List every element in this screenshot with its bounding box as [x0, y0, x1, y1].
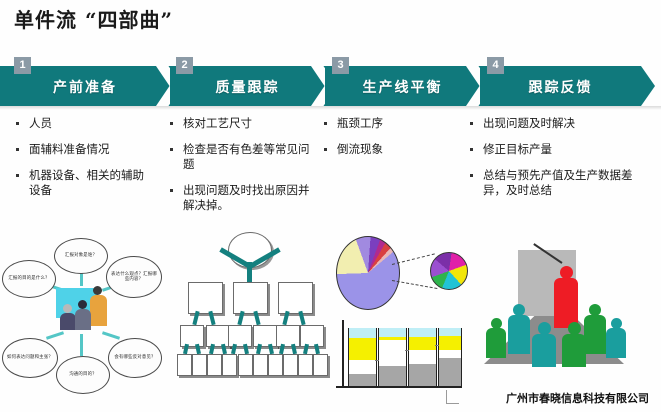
training-session-image [470, 232, 655, 397]
speech-bubble: 表达什么观点？汇报哪些内容？ [106, 256, 162, 298]
chart-x-axis [336, 386, 462, 388]
speech-bubble-text: 会有哪些反对意见？ [109, 339, 161, 377]
audience-body-shape [584, 315, 606, 354]
bar-segment-gray [349, 374, 376, 386]
audience-figure [532, 322, 556, 367]
bar-segment-white [379, 340, 406, 366]
tree-node-level3 [228, 325, 252, 347]
tree-node-level4 [207, 354, 222, 376]
head-icon [93, 286, 102, 295]
tree-node-level4 [283, 354, 298, 376]
speech-bubble: 如何表达问题和主张？ [2, 338, 58, 378]
company-footer: 广州市春晓信息科技有限公司 [506, 390, 649, 406]
bar-segment-gray [439, 358, 461, 386]
tree-link [279, 344, 285, 355]
chart-y-axis [342, 320, 344, 386]
speech-bubble: 沟通的目的？ [56, 356, 110, 394]
bullet-columns: 人员 面辅料准备情况 机器设备、相关的辅助设备 核对工艺尺寸 检查是否有色差等常… [0, 116, 661, 236]
artwork-row: 汇报的目的是什么？ 汇报对象是谁？ 表达什么观点？汇报哪些内容？ 如何表达问题和… [0, 232, 661, 397]
speech-bubble: 汇报对象是谁？ [54, 238, 108, 274]
bar-segment-white [349, 360, 376, 374]
bar-connector-band [405, 350, 409, 351]
tree-node-level3 [276, 325, 300, 347]
tree-node-level2 [188, 282, 223, 314]
tree-node-level4 [313, 354, 328, 376]
audience-figure [562, 322, 586, 367]
process-step-1-number: 1 [14, 57, 31, 74]
bullet-item: 核对工艺尺寸 [168, 116, 310, 131]
process-band: 产前准备 1 质量跟踪 2 生产线平衡 3 跟踪反馈 4 [0, 66, 661, 106]
tree-link [209, 344, 215, 355]
page-title: 单件流 “四部曲” [14, 4, 173, 33]
bullet-item: 出现问题及时找出原因并解决掉。 [168, 183, 310, 213]
presenter-body-shape [554, 278, 578, 328]
speech-bubble-text: 表达什么观点？汇报哪些内容？ [107, 257, 161, 297]
bar-segment-cyan [439, 328, 461, 336]
audience-figure [606, 318, 626, 358]
presenter-figure [552, 266, 580, 328]
main-pie-chart [336, 236, 400, 310]
body-shape [75, 309, 91, 330]
discussion-mindmap-image: 汇报的目的是什么？ 汇报对象是谁？ 表达什么观点？汇报哪些内容？ 如何表达问题和… [2, 234, 162, 394]
tree-node-level3 [206, 325, 230, 347]
audience-figure [486, 318, 506, 358]
bar-segment-cyan [379, 328, 406, 337]
bar-segment-gray [379, 366, 406, 386]
bullet-item: 人员 [14, 116, 154, 131]
tree-node-level3 [253, 325, 277, 347]
tree-link [256, 344, 262, 355]
speech-bubble: 会有哪些反对意见？ [108, 338, 162, 378]
bar-segment-cyan [409, 328, 436, 337]
speech-bubble-text: 汇报的目的是什么？ [3, 261, 55, 297]
bar-connector-band [375, 360, 379, 361]
tree-node-level4 [238, 354, 253, 376]
mindmap-person-listener-b [75, 300, 91, 330]
mindmap-person-listener-a [60, 304, 76, 330]
bullet-column-4: 出现问题及时解决 修正目标产量 总结与预先产值及生产数据差异，及时总结 [468, 116, 648, 209]
bar-segment-white [439, 350, 461, 358]
audience-figure [584, 304, 606, 354]
process-step-2-number: 2 [176, 57, 193, 74]
bullet-item: 检查是否有色差等常见问题 [168, 142, 310, 172]
bar-segment-yellow [409, 337, 436, 350]
tree-link [183, 344, 189, 355]
head-icon [78, 300, 87, 309]
process-step-2-label: 质量跟踪 [170, 77, 325, 97]
audience-body-shape [486, 328, 506, 358]
tree-node-level4 [298, 354, 313, 376]
process-step-4[interactable]: 跟踪反馈 [480, 66, 655, 106]
band-shadow [0, 106, 661, 110]
bullet-item: 倒流现象 [322, 142, 452, 157]
bar-segment-yellow [439, 336, 461, 350]
bar-segment-white [409, 350, 436, 364]
body-shape [90, 295, 107, 326]
tree-link [231, 344, 237, 355]
bar-segment-yellow [349, 338, 376, 360]
tree-node-level4 [177, 354, 192, 376]
body-shape [60, 313, 76, 330]
tree-link [303, 344, 309, 355]
bar-column [348, 328, 377, 386]
tree-node-level4 [192, 354, 207, 376]
bullet-item: 瓶颈工序 [322, 116, 452, 131]
process-step-4-label: 跟踪反馈 [480, 77, 641, 97]
pie-connector-line [392, 280, 437, 289]
bar-segment-gray [409, 364, 436, 386]
speech-bubble-text: 如何表达问题和主张？ [3, 339, 57, 377]
process-step-4-number: 4 [487, 57, 504, 74]
speech-bubble-text: 沟通的目的？ [57, 357, 109, 393]
tree-node-level3 [180, 325, 204, 347]
bullet-item: 修正目标产量 [468, 142, 648, 157]
mindmap-person-presenter [90, 286, 107, 326]
head-icon [63, 304, 72, 313]
mindmap-arrow [80, 334, 83, 356]
process-step-1-label: 产前准备 [0, 77, 170, 97]
tree-node-level2 [233, 282, 268, 314]
tree-node-level4 [222, 354, 237, 376]
detail-pie-chart [430, 252, 468, 290]
stacked-bar-chart [336, 320, 462, 392]
corner-mark [446, 390, 459, 404]
bullet-item: 出现问题及时解决 [468, 116, 648, 131]
bar-connector-band [435, 345, 439, 346]
bar-column [408, 328, 437, 386]
process-step-3-label: 生产线平衡 [325, 77, 480, 97]
bar-segment-cyan [349, 328, 376, 338]
audience-body-shape [532, 334, 556, 367]
pie-and-bar-image [330, 232, 470, 397]
audience-body-shape [562, 334, 586, 367]
audience-body-shape [606, 328, 626, 358]
pie-connector-line [392, 253, 435, 265]
audience-figure [508, 304, 530, 354]
process-step-2[interactable]: 质量跟踪 [170, 66, 325, 106]
tree-node-level2 [278, 282, 313, 314]
process-step-3-number: 3 [332, 57, 349, 74]
bar-column [438, 328, 462, 386]
tree-node-level3 [300, 325, 324, 347]
speech-bubble: 汇报的目的是什么？ [2, 260, 56, 298]
tree-node-level4 [253, 354, 268, 376]
bullet-column-1: 人员 面辅料准备情况 机器设备、相关的辅助设备 [14, 116, 154, 209]
organization-tree-image [172, 232, 322, 397]
bullet-column-3: 瓶颈工序 倒流现象 [322, 116, 452, 168]
bullet-column-2: 核对工艺尺寸 检查是否有色差等常见问题 出现问题及时找出原因并解决掉。 [168, 116, 310, 224]
slide-canvas: 单件流 “四部曲” 产前准备 1 质量跟踪 2 生产线平衡 3 跟踪反馈 4 人… [0, 0, 661, 412]
tree-node-level4 [268, 354, 283, 376]
bullet-item: 面辅料准备情况 [14, 142, 154, 157]
bar-column [378, 328, 407, 386]
bullet-item: 机器设备、相关的辅助设备 [14, 168, 154, 198]
audience-body-shape [508, 315, 530, 354]
bullet-item: 总结与预先产值及生产数据差异，及时总结 [468, 168, 648, 198]
speech-bubble-text: 汇报对象是谁？ [55, 239, 107, 273]
